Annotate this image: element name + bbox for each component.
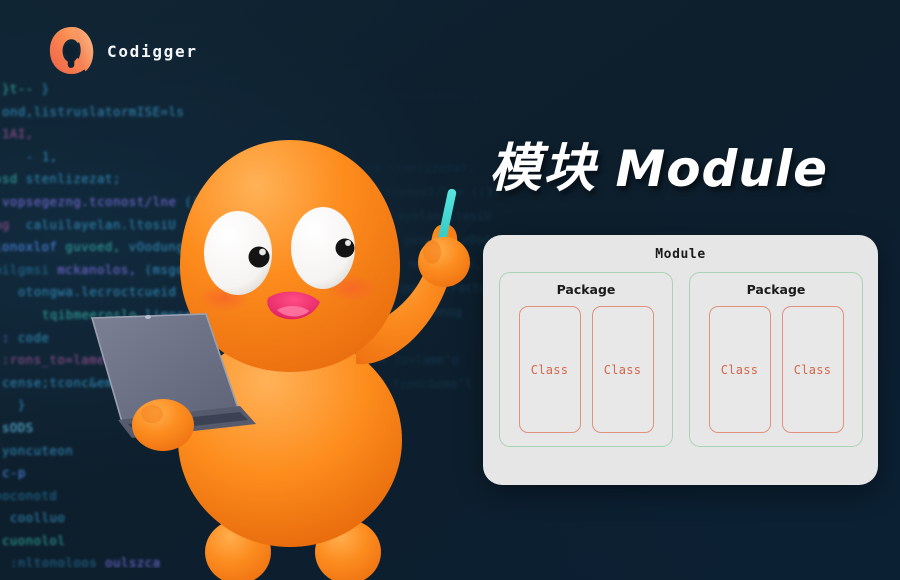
- package-label: Package: [500, 282, 672, 297]
- code-line-secondary: ond,listruslatormISE=ls: [300, 84, 630, 108]
- page-title-chinese: 模块: [489, 139, 597, 199]
- class-row: ClassClass: [500, 306, 672, 433]
- page-title: 模块 Module: [489, 126, 828, 201]
- class-row: ClassClass: [690, 306, 862, 433]
- class-label: Class: [531, 363, 569, 377]
- class-box: Class: [782, 306, 844, 433]
- code-line-secondary: cmg caluilayelan.ltosiU: [300, 204, 630, 228]
- page-title-english: Module: [615, 140, 828, 198]
- code-line-secondary: }t-- }: [300, 60, 630, 84]
- class-label: Class: [794, 363, 832, 377]
- brand-name: Codigger: [107, 42, 198, 61]
- class-label: Class: [604, 363, 642, 377]
- module-panel-label: Module: [483, 247, 878, 262]
- class-box: Class: [709, 306, 771, 433]
- brand-lockup[interactable]: Codigger: [48, 26, 198, 76]
- package-box: PackageClassClass: [499, 272, 673, 447]
- class-box: Class: [519, 306, 581, 433]
- class-label: Class: [721, 363, 759, 377]
- package-label: Package: [690, 282, 862, 297]
- class-box: Class: [592, 306, 654, 433]
- module-diagram-panel: Module PackageClassClassPackageClassClas…: [483, 235, 878, 485]
- banner-canvas: }t-- } ond,listruslatormISE=ls 1AI, - 1,…: [0, 0, 900, 580]
- codigger-flame-logo-icon: [48, 26, 95, 76]
- package-row: PackageClassClassPackageClassClass: [483, 272, 878, 447]
- package-box: PackageClassClass: [689, 272, 863, 447]
